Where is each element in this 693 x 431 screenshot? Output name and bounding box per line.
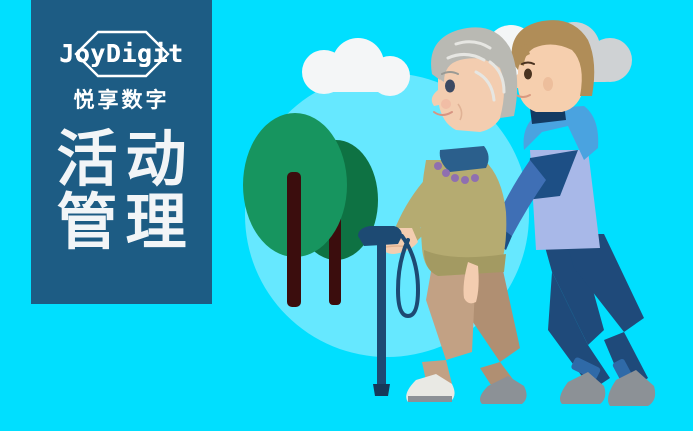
brand-logo: JoyDigit 悦享数字 — [31, 30, 212, 114]
title-panel: JoyDigit 悦享数字 活动 管理 — [31, 0, 212, 304]
elderly-care-walking-illustration — [212, 0, 693, 431]
page-title-line-2: 管理 — [31, 191, 212, 254]
poster-canvas: JoyDigit 悦享数字 活动 管理 — [0, 0, 693, 431]
logo-chinese-name: 悦享数字 — [31, 84, 212, 114]
page-title-line-1: 活动 — [31, 128, 212, 191]
logo-lockup: JoyDigit — [31, 30, 212, 78]
young-man-front-shoe — [608, 370, 655, 406]
young-man-head — [512, 20, 595, 112]
elderly-woman-head — [431, 27, 517, 132]
elderly-woman-back-shoe — [480, 376, 527, 404]
page-title: 活动 管理 — [31, 128, 212, 255]
logo-wordmark: JoyDigit — [31, 39, 212, 68]
cloud-left — [302, 38, 410, 96]
